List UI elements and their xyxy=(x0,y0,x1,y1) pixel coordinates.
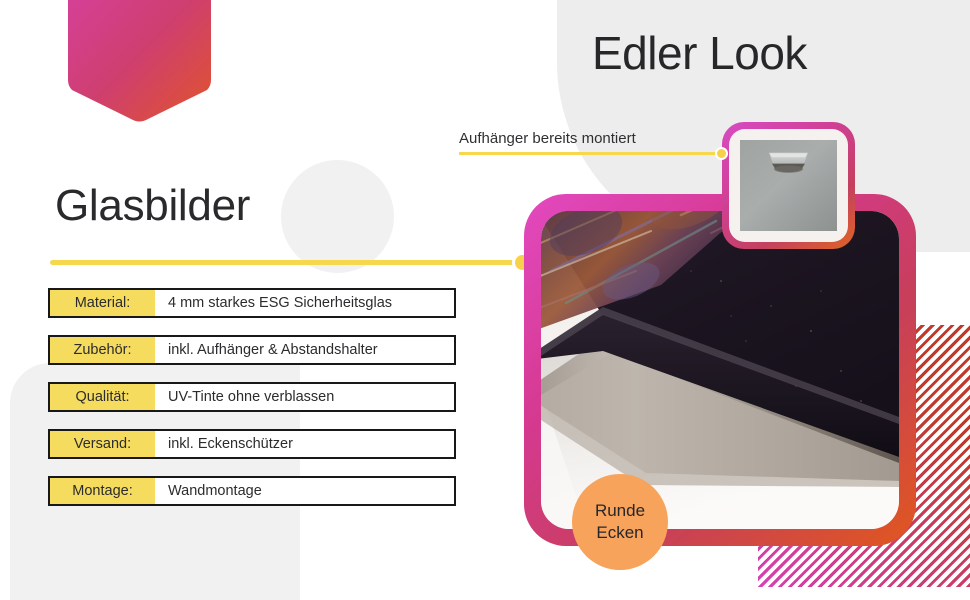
connector-line-main xyxy=(50,260,526,265)
spec-row: Zubehör:inkl. Aufhänger & Abstandshalter xyxy=(48,335,456,365)
tagline-heading: Edler Look xyxy=(592,26,807,80)
spec-value: Wandmontage xyxy=(155,478,454,504)
specification-table: Material:4 mm starkes ESG Sicherheitsgla… xyxy=(48,288,456,523)
callout-label: Aufhänger bereits montiert xyxy=(459,130,636,147)
spec-value: inkl. Aufhänger & Abstandshalter xyxy=(155,337,454,363)
spec-key: Montage: xyxy=(50,478,155,504)
background-circle-decor xyxy=(281,160,394,273)
spec-key: Versand: xyxy=(50,431,155,457)
spec-row: Versand:inkl. Eckenschützer xyxy=(48,429,456,459)
spec-value: 4 mm starkes ESG Sicherheitsglas xyxy=(155,290,454,316)
hanger-inset-frame xyxy=(722,122,855,249)
callout-connector-dot xyxy=(715,147,728,160)
spec-value: UV-Tinte ohne verblassen xyxy=(155,384,454,410)
badge-line-1: Runde xyxy=(595,500,645,522)
spec-row: Material:4 mm starkes ESG Sicherheitsgla… xyxy=(48,288,456,318)
callout-connector-line xyxy=(459,152,721,155)
hanger-inset-inner xyxy=(729,129,848,242)
shield-badge-icon xyxy=(68,0,211,123)
spec-key: Zubehör: xyxy=(50,337,155,363)
spec-key: Qualität: xyxy=(50,384,155,410)
spec-value: inkl. Eckenschützer xyxy=(155,431,454,457)
spec-row: Montage:Wandmontage xyxy=(48,476,456,506)
spec-key: Material: xyxy=(50,290,155,316)
badge-line-2: Ecken xyxy=(596,522,643,544)
page-title: Glasbilder xyxy=(55,181,250,231)
infographic-canvas: Edler Look Glasbilder Aufhänger bereits … xyxy=(0,0,970,600)
spec-row: Qualität:UV-Tinte ohne verblassen xyxy=(48,382,456,412)
status-badge-rounded-corners: Runde Ecken xyxy=(572,474,668,570)
